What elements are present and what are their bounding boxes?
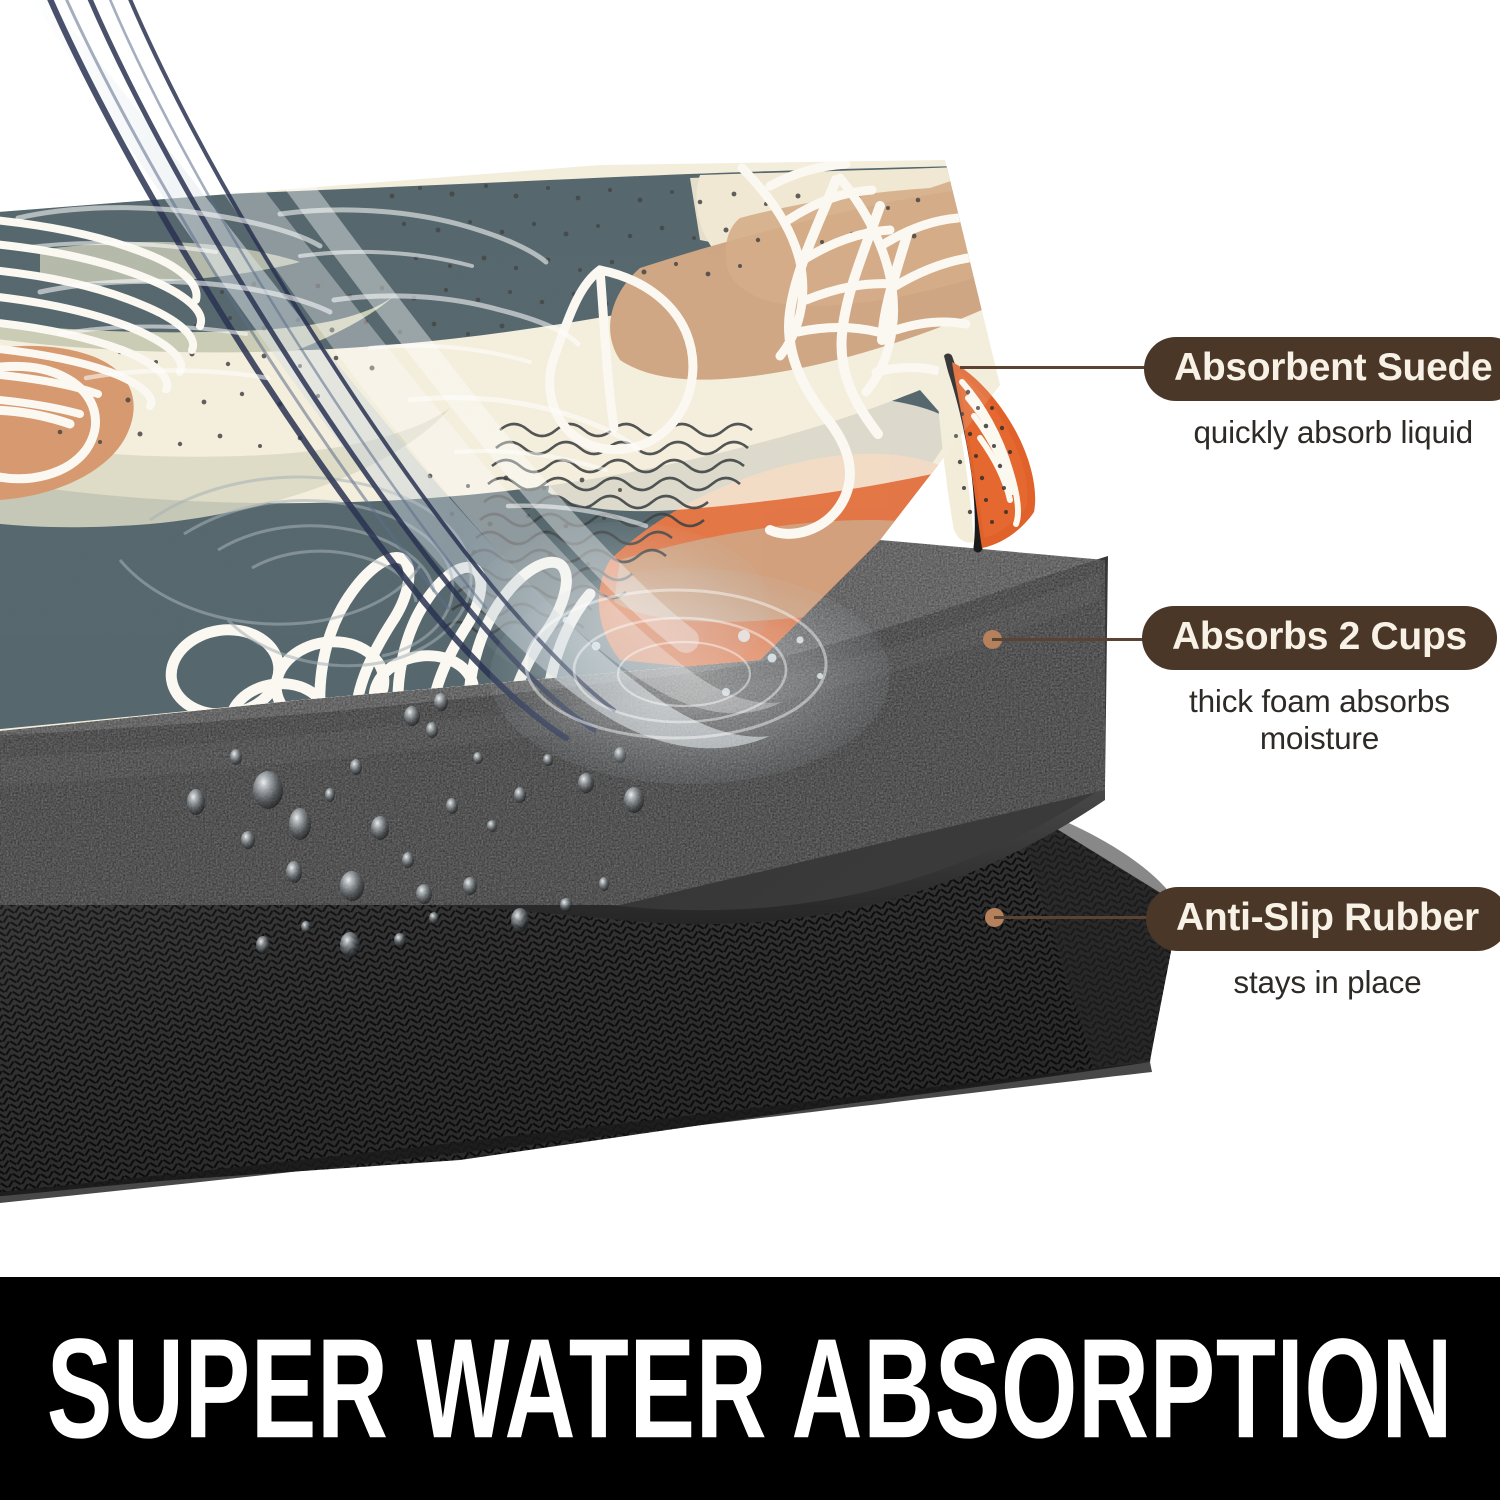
- leader-line-rubber: [994, 916, 1154, 919]
- leader-line-suede: [960, 366, 1150, 369]
- callout-title-absorbent-suede: Absorbent Suede: [1144, 337, 1500, 401]
- bottom-banner: SUPER WATER ABSORPTION: [0, 1277, 1500, 1500]
- callout-absorbs-2-cups: Absorbs 2 Cups thick foam absorbs moistu…: [1142, 606, 1497, 756]
- callout-subtitle-absorbent-suede: quickly absorb liquid: [1193, 414, 1472, 451]
- banner-headline: SUPER WATER ABSORPTION: [47, 1318, 1453, 1460]
- callout-title-absorbs-2-cups: Absorbs 2 Cups: [1142, 606, 1497, 670]
- leader-line-foam: [992, 638, 1152, 641]
- callout-title-anti-slip-rubber: Anti-Slip Rubber: [1146, 887, 1500, 951]
- callout-subtitle-anti-slip-rubber: stays in place: [1233, 964, 1421, 1001]
- callout-anti-slip-rubber: Anti-Slip Rubber stays in place: [1146, 887, 1500, 1001]
- infographic-root: Absorbent Suede quickly absorb liquid Ab…: [0, 0, 1500, 1500]
- callout-subtitle-absorbs-2-cups: thick foam absorbs moisture: [1189, 683, 1450, 757]
- callout-absorbent-suede: Absorbent Suede quickly absorb liquid: [1144, 337, 1500, 451]
